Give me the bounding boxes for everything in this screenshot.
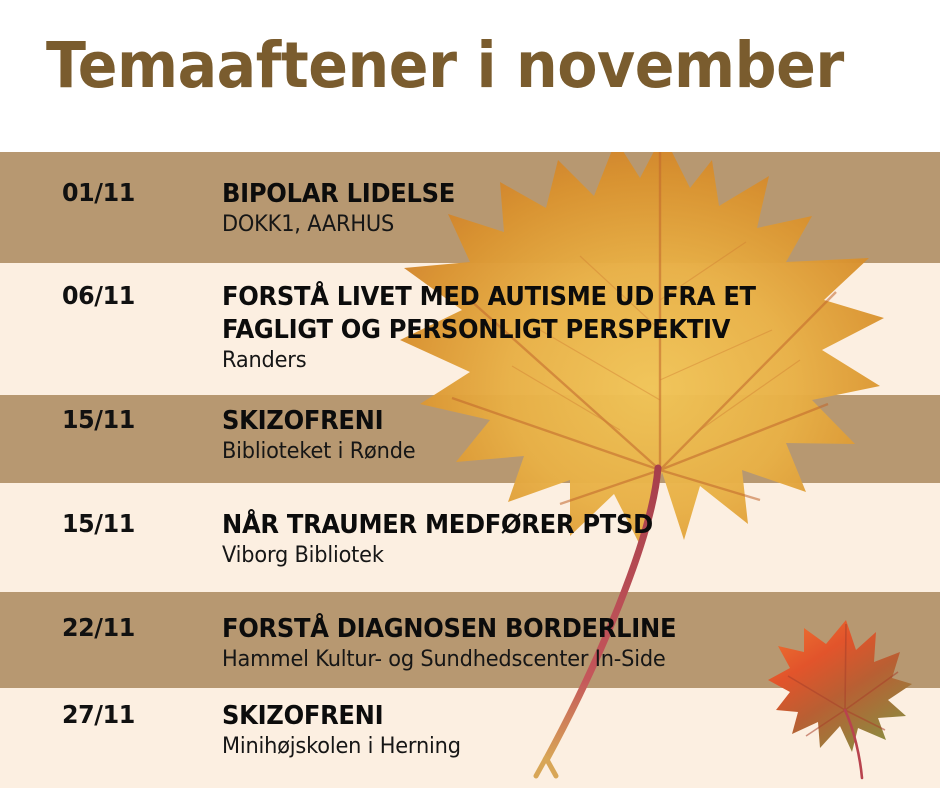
event-title: SKIZOFRENI	[222, 700, 880, 733]
event-date: 01/11	[62, 178, 135, 208]
event-body: BIPOLAR LIDELSE DOKK1, AARHUS	[222, 178, 930, 239]
event-venue: DOKK1, AARHUS	[222, 211, 895, 239]
event-title-line-2: FAGLIGT OG PERSONLIGT PERSPEKTIV	[222, 314, 880, 347]
event-body: SKIZOFRENI Minihøjskolen i Herning	[222, 700, 930, 761]
event-body: FORSTÅ LIVET MED AUTISME UD FRA ET FAGLI…	[222, 281, 930, 375]
page-title: Temaaftener i november	[46, 30, 844, 102]
event-venue: Viborg Bibliotek	[222, 542, 895, 570]
poster-header: Temaaftener i november	[0, 0, 940, 152]
event-venue: Minihøjskolen i Herning	[222, 733, 895, 761]
event-date: 27/11	[62, 700, 135, 730]
event-title: FORSTÅ DIAGNOSEN BORDERLINE	[222, 613, 880, 646]
event-title: SKIZOFRENI	[222, 405, 880, 438]
event-venue: Hammel Kultur- og Sundhedscenter In-Side	[222, 646, 895, 674]
poster-canvas: Temaaftener i november 01/11 BIPOLAR LID…	[0, 0, 940, 788]
event-body: NÅR TRAUMER MEDFØRER PTSD Viborg Bibliot…	[222, 509, 930, 570]
event-date: 22/11	[62, 613, 135, 643]
event-body: SKIZOFRENI Biblioteket i Rønde	[222, 405, 930, 466]
event-date: 15/11	[62, 509, 135, 539]
event-venue: Randers	[222, 347, 895, 375]
event-title: NÅR TRAUMER MEDFØRER PTSD	[222, 509, 880, 542]
event-title-line-1: FORSTÅ LIVET MED AUTISME UD FRA ET	[222, 281, 880, 314]
event-venue: Biblioteket i Rønde	[222, 438, 895, 466]
event-title: BIPOLAR LIDELSE	[222, 178, 880, 211]
event-date: 15/11	[62, 405, 135, 435]
event-date: 06/11	[62, 281, 135, 311]
event-body: FORSTÅ DIAGNOSEN BORDERLINE Hammel Kultu…	[222, 613, 930, 674]
